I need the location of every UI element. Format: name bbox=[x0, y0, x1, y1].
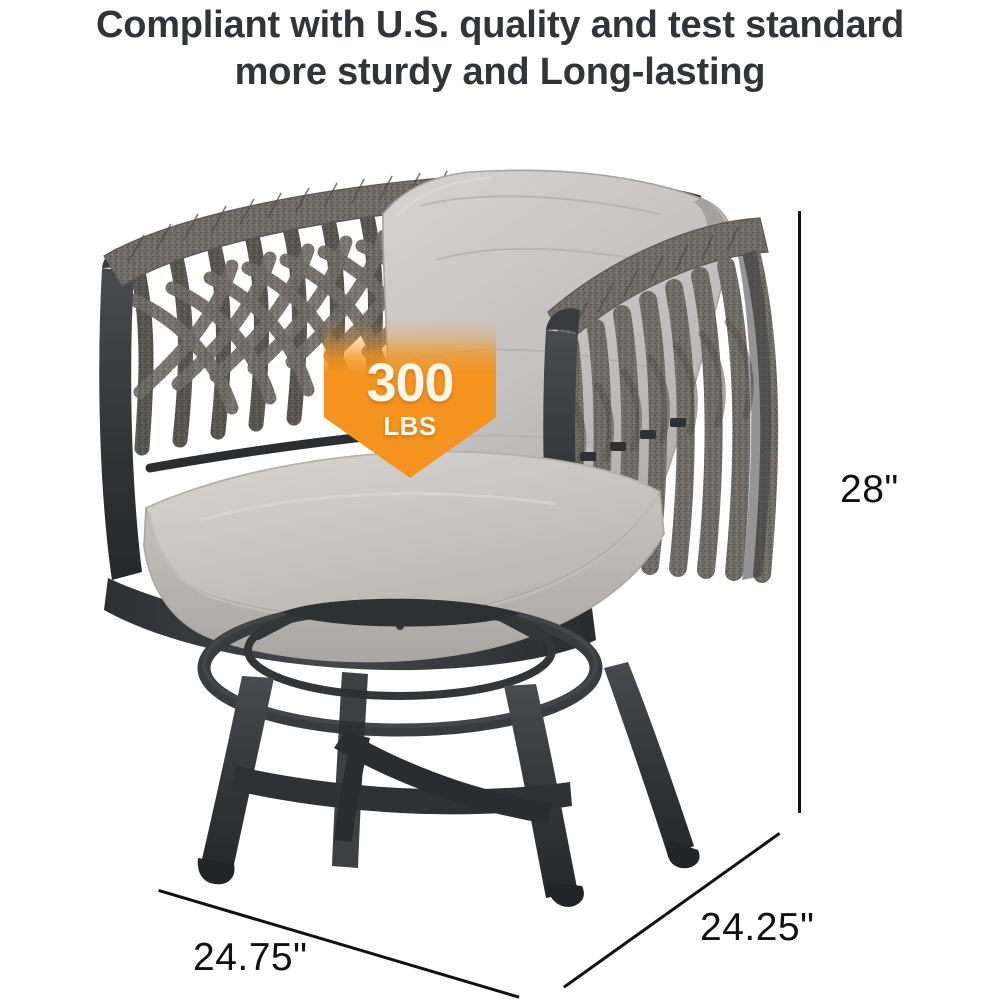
depth-dimension-label: 24.25" bbox=[700, 906, 814, 950]
chair-legs bbox=[198, 662, 700, 907]
product-dimension-infographic: Compliant with U.S. quality and test sta… bbox=[0, 0, 1000, 1000]
height-dimension-line bbox=[798, 211, 801, 813]
badge-unit: LBS bbox=[324, 413, 496, 439]
height-dimension-label: 28" bbox=[840, 468, 899, 512]
badge-value: 300 bbox=[324, 356, 496, 410]
width-dimension-label: 24.75" bbox=[193, 936, 307, 980]
